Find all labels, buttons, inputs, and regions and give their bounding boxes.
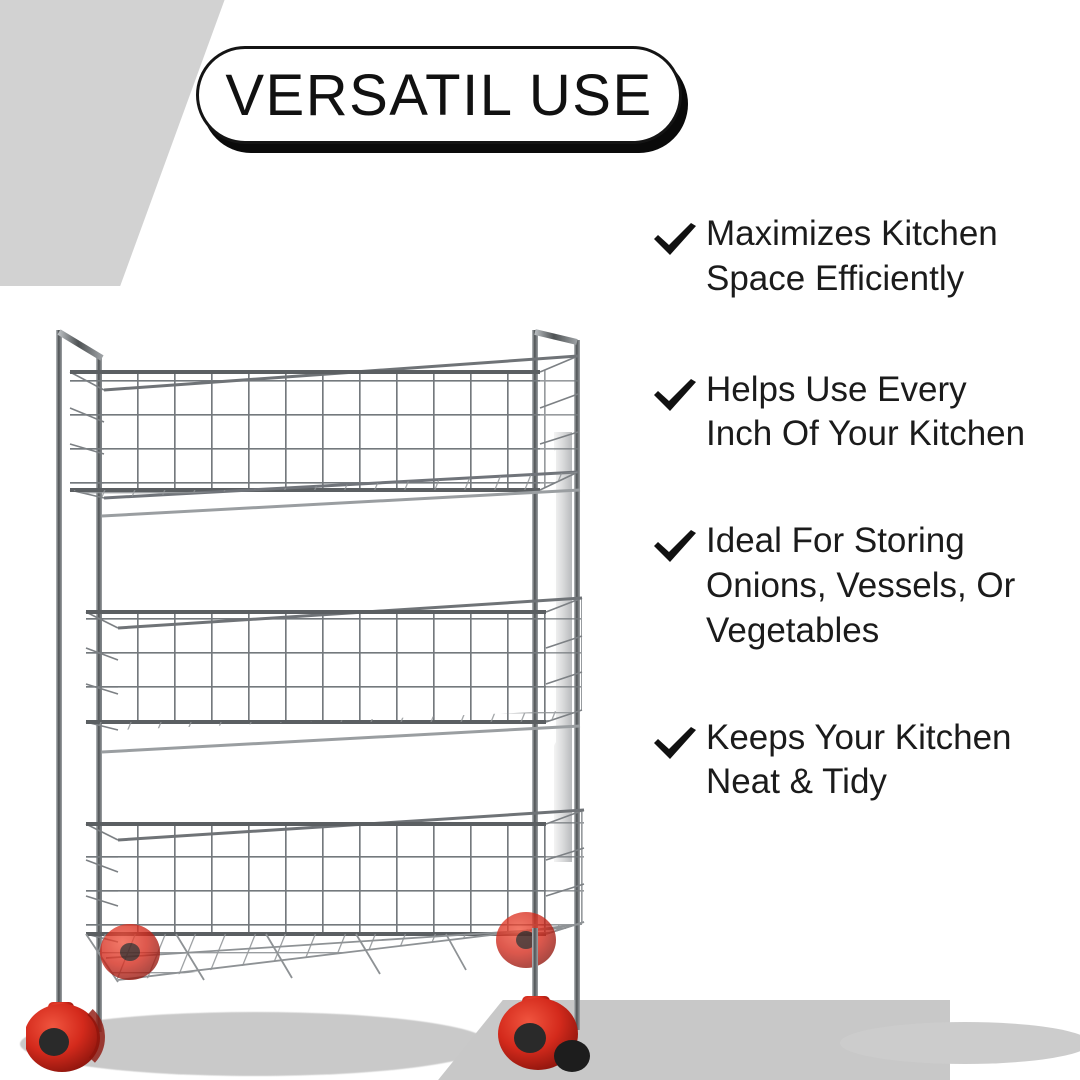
page-title: VERSATIL USE bbox=[225, 62, 652, 129]
title-badge-pill: VERSATIL USE bbox=[196, 46, 682, 144]
title-badge: VERSATIL USE bbox=[196, 46, 682, 144]
feature-item-maximizes-space: Maximizes Kitchen Space Efficiently bbox=[652, 212, 1080, 302]
feature-item-every-inch: Helps Use Every Inch Of Your Kitchen bbox=[652, 368, 1080, 458]
feature-item-ideal-storing: Ideal For Storing Onions, Vessels, Or Ve… bbox=[652, 519, 1080, 653]
background-corner-shape bbox=[0, 0, 226, 286]
check-icon bbox=[652, 529, 698, 567]
feature-text: Keeps Your Kitchen Neat & Tidy bbox=[706, 716, 1012, 806]
infographic-page: VERSATIL USE bbox=[0, 0, 1080, 1080]
trolley-basket-middle bbox=[62, 598, 582, 752]
trolley-basket-top bbox=[62, 356, 580, 516]
check-icon bbox=[652, 378, 698, 416]
background-shadow-right bbox=[840, 1022, 1080, 1064]
check-icon bbox=[652, 222, 698, 260]
feature-item-neat-tidy: Keeps Your Kitchen Neat & Tidy bbox=[652, 716, 1080, 806]
feature-text: Ideal For Storing Onions, Vessels, Or Ve… bbox=[706, 519, 1015, 653]
product-image-trolley bbox=[26, 312, 666, 1072]
feature-list: Maximizes Kitchen Space Efficiently Help… bbox=[652, 212, 1080, 805]
feature-text: Helps Use Every Inch Of Your Kitchen bbox=[706, 368, 1025, 458]
trolley-caster-wheel-left bbox=[26, 1002, 101, 1072]
check-icon bbox=[652, 726, 698, 764]
feature-text: Maximizes Kitchen Space Efficiently bbox=[706, 212, 998, 302]
